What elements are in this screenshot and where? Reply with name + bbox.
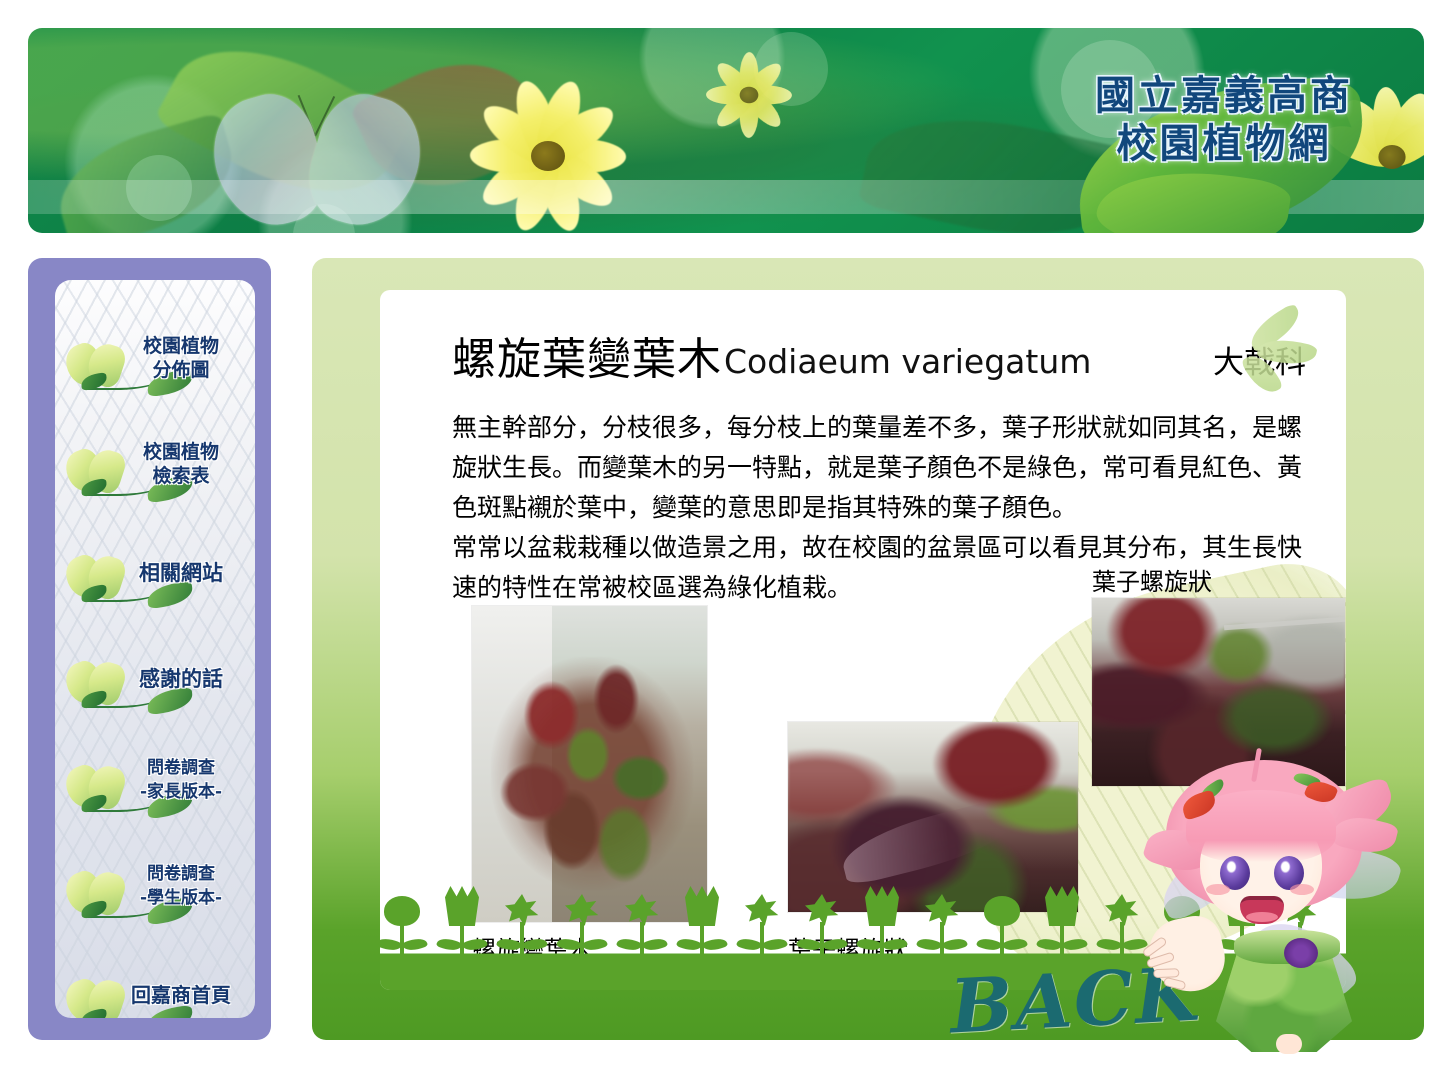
- fairy-blush: [1290, 884, 1314, 895]
- sidebar-item-label: 回嘉商首頁: [107, 982, 255, 1008]
- banner-flower-small: [684, 40, 814, 150]
- description-paragraph-1: 無主幹部分，分枝很多，每分枝上的葉量差不多，葉子形狀就如同其名，是螺旋狀生長。而…: [452, 408, 1312, 528]
- sidebar-item-acknowledgements[interactable]: 感謝的話: [55, 648, 255, 732]
- sidebar-item-campus-plant-index[interactable]: 校園植物 檢索表: [55, 436, 255, 520]
- photo-whole-plant[interactable]: [472, 606, 707, 922]
- fairy-hand: [1143, 911, 1231, 999]
- site-logo[interactable]: 國立嘉義高商 校園植物網: [1054, 66, 1394, 233]
- photo-leaf-spiral-caption: 葉子螺旋狀: [1092, 562, 1212, 597]
- fairy-mascot: [1148, 752, 1410, 1052]
- plant-name-latin: Codiaeum variegatum: [724, 340, 1091, 384]
- logo-line-1: 國立嘉義高商: [1054, 72, 1394, 120]
- sidebar-item-related-sites[interactable]: 相關網站: [55, 542, 255, 626]
- photo-leaf-closeup[interactable]: [788, 722, 1078, 912]
- fairy-blush: [1206, 884, 1230, 895]
- sidebar-item-survey-student[interactable]: 問卷調查 -學生版本-: [55, 858, 255, 942]
- page-title: 螺旋葉變葉木 Codiaeum variegatum 大戟科: [452, 328, 1312, 384]
- sidebar-item-survey-parent[interactable]: 問卷調查 -家長版本-: [55, 752, 255, 836]
- sidebar-item-back-to-school-home[interactable]: 回嘉商首頁: [55, 966, 255, 1018]
- sidebar-item-label: 感謝的話: [107, 666, 255, 692]
- sidebar-item-campus-plant-map[interactable]: 校園植物 分佈圖: [55, 330, 255, 414]
- page-root: 國立嘉義高商 校園植物網 校園植物 分佈圖: [0, 0, 1452, 1090]
- sidebar-item-label: 校園植物 檢索表: [107, 440, 255, 488]
- sidebar-item-label: 相關網站: [107, 560, 255, 586]
- sidebar-item-label: 校園植物 分佈圖: [107, 334, 255, 382]
- header-banner: 國立嘉義高商 校園植物網: [28, 28, 1424, 233]
- sidebar-item-label: 問卷調查 -學生版本-: [107, 862, 255, 910]
- logo-line-2: 校園植物網: [1054, 120, 1394, 168]
- fairy-leg: [1276, 1034, 1302, 1054]
- title-leaf-icon: [1236, 308, 1328, 404]
- fairy-flower-brooch-icon: [1284, 938, 1318, 968]
- sidebar-panel: 校園植物 分佈圖 校園植物 檢索表 相關網站: [55, 280, 255, 1018]
- fairy-mouth: [1240, 896, 1284, 924]
- sidebar-item-label: 問卷調查 -家長版本-: [107, 756, 255, 804]
- sidebar: 校園植物 分佈圖 校園植物 檢索表 相關網站: [28, 258, 271, 1040]
- plant-name-chinese: 螺旋葉變葉木: [452, 336, 722, 384]
